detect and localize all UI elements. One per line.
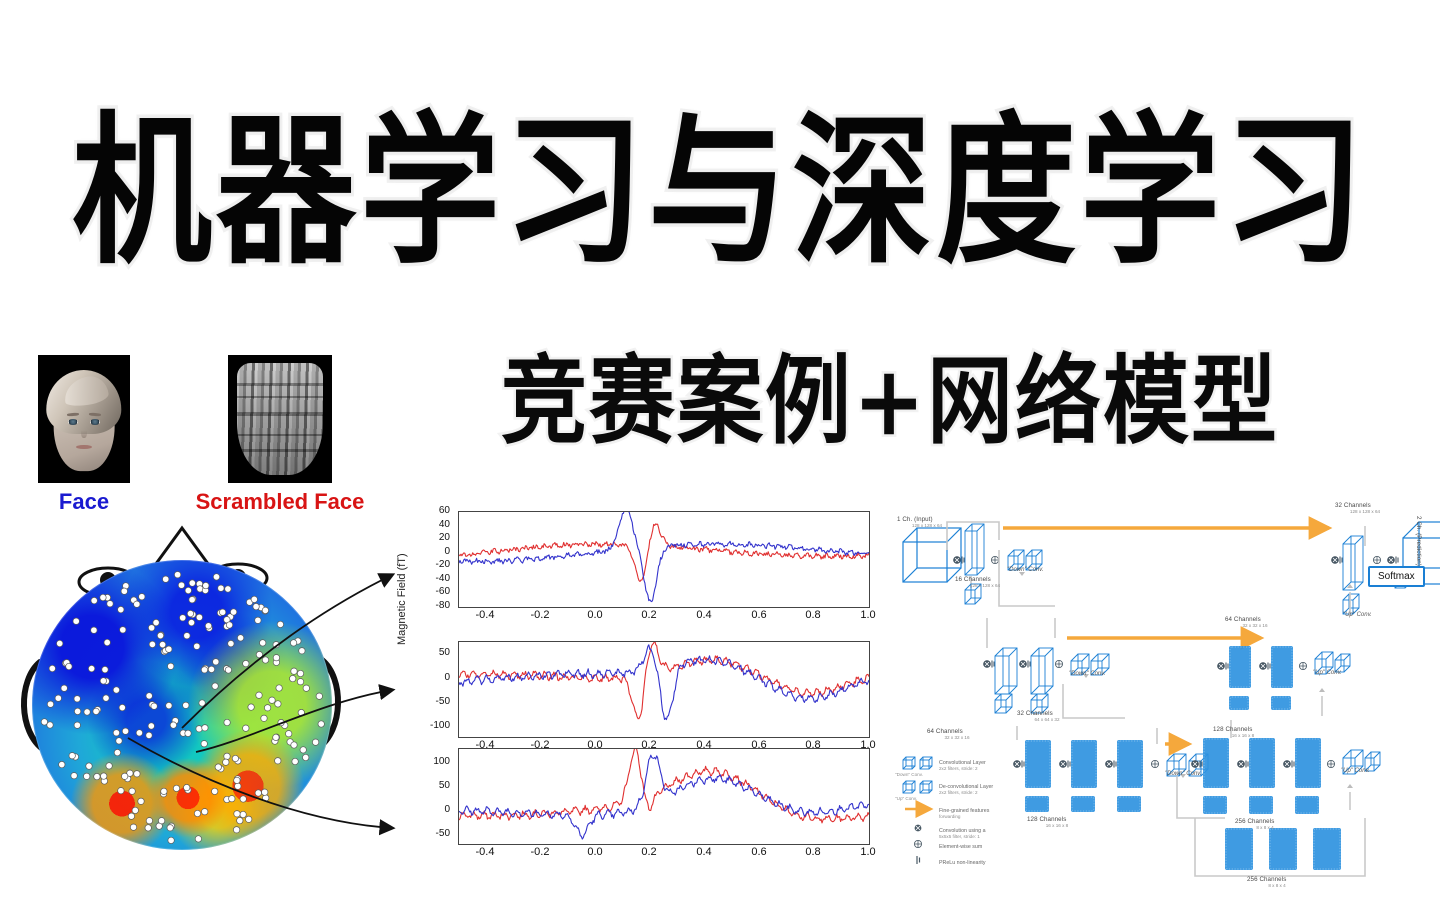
- scrambled-band: [237, 412, 322, 416]
- vnet-stage-dims: 8 x 8 x 4: [1247, 883, 1307, 888]
- scrambled-band: [237, 383, 322, 386]
- vnet-stage-dims: 128 x 128 x 64: [1335, 509, 1395, 514]
- vnet-legend-tag: "Up" Conv.: [895, 796, 917, 801]
- face-nose: [81, 425, 87, 438]
- scrambled-texture: [237, 363, 322, 476]
- arrow-to-panel-bottom: [128, 738, 392, 828]
- vnet-stage-label: 2 Ch. (Prediction): [1415, 516, 1422, 566]
- softmax-box: Softmax: [1368, 566, 1425, 587]
- vnet-architecture-diagram: 1 Ch. (Input)128 x 128 x 6416 Channels12…: [895, 488, 1440, 893]
- face-mouth: [76, 445, 93, 449]
- vnet-legend-sub: 2x2 filters, stride: 2: [939, 766, 978, 771]
- panel-top-traces: [459, 512, 869, 607]
- vnet-stage-label: 1 Ch. (Input): [897, 516, 933, 523]
- vnet-stage-label: 16 Channels: [955, 576, 991, 583]
- scrambled-band: [237, 396, 322, 398]
- vnet-stage-label: 32 Channels: [1017, 710, 1053, 717]
- panel-bottom: [458, 748, 870, 845]
- vnet-stage-dims: 32 x 32 x 16: [927, 735, 987, 740]
- panel-top: [458, 511, 870, 608]
- vnet-stage-dims: 16 x 16 x 8: [1027, 823, 1087, 828]
- vnet-stage-dims: 128 x 128 x 64: [897, 523, 957, 528]
- vnet-legend-tag: "Down" Conv.: [895, 772, 923, 777]
- face-image: [38, 355, 130, 483]
- scrambled-band: [237, 434, 322, 436]
- panel-middle-traces: [459, 642, 869, 737]
- vnet-stage-label: 32 Channels: [1335, 502, 1371, 509]
- vnet-legend-sub: 2x2 filters, stride: 2: [939, 790, 978, 795]
- meg-evoked-plots: Magnetic Field (fT) 6040200-20-40-60-80 …: [400, 495, 880, 885]
- vnet-legend-sub: forwarding: [939, 814, 960, 819]
- vnet-stage-dims: 8 x 8 x 4: [1235, 825, 1295, 830]
- vnet-op-label: "Up" Conv.: [1343, 612, 1372, 618]
- vnet-op-label: "Down" Conv.: [1165, 771, 1202, 777]
- page-title: 机器学习与深度学习: [0, 99, 1440, 285]
- vnet-stage-label: 256 Channels: [1247, 876, 1286, 883]
- pointer-arrows: [0, 480, 440, 900]
- vnet-legend-title: Element-wise sum: [939, 844, 982, 851]
- vnet-op-label: "Up" Conv.: [1313, 670, 1342, 676]
- vnet-stage-dims: 128 x 128 x 64: [955, 583, 1015, 588]
- vnet-op-label: "Down" Conv.: [1007, 567, 1044, 573]
- arrow-to-panel-top: [182, 575, 392, 728]
- panel-bottom-traces: [459, 749, 869, 844]
- vnet-stage-label: 64 Channels: [927, 728, 963, 735]
- scrambled-face-image: [228, 355, 332, 483]
- vnet-op-label: "Up" Conv.: [1341, 768, 1370, 774]
- vnet-stage-dims: 64 x 64 x 32: [1017, 717, 1077, 722]
- vnet-legend-sub: 5x5x5 filter, stride: 1: [939, 834, 980, 839]
- vnet-op-label: "Down" Conv.: [1069, 671, 1106, 677]
- plots-y-axis-label: Magnetic Field (fT): [396, 553, 408, 645]
- arrow-to-panel-middle: [196, 690, 392, 752]
- scrambled-band: [237, 449, 322, 452]
- vnet-stage-label: 128 Channels: [1027, 816, 1066, 823]
- vnet-stage-label: 256 Channels: [1235, 818, 1274, 825]
- vnet-legend-title: PReLu non-linearity: [939, 860, 986, 867]
- panel-middle: [458, 641, 870, 738]
- vnet-stage-dims: 16 x 16 x 8: [1213, 733, 1273, 738]
- vnet-stage-label: 64 Channels: [1225, 616, 1261, 623]
- page-subtitle: 竞赛案例+网络模型: [430, 346, 1350, 458]
- vnet-stage-label: 128 Channels: [1213, 726, 1252, 733]
- vnet-stage-dims: 32 x 32 x 16: [1225, 623, 1285, 628]
